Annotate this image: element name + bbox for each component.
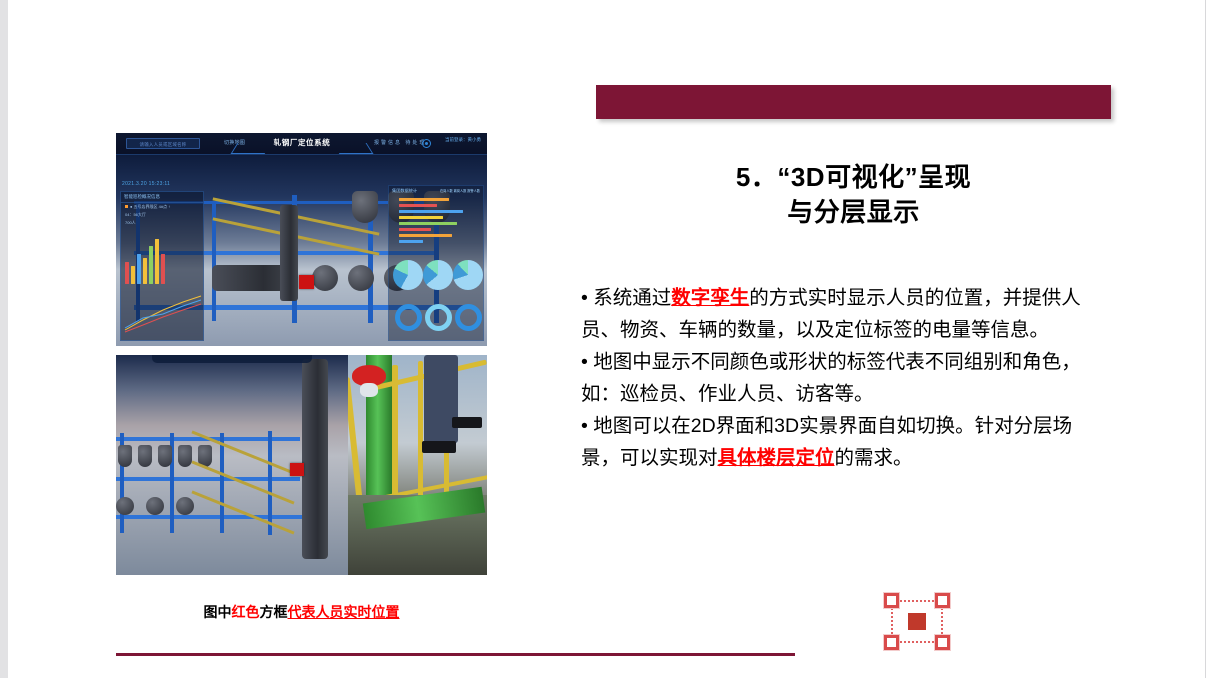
right-panel-donut-group bbox=[393, 304, 483, 334]
bullet-marker: • bbox=[581, 287, 588, 309]
caption-red-color: 红色 bbox=[232, 604, 260, 620]
search-placeholder: 请输入人员或区域名称 bbox=[127, 139, 199, 150]
spherical-tank bbox=[146, 497, 164, 515]
left-stats-panel[interactable]: 智能巡检概况信息 ● 五号店界限区 4#点 ↑ 04：56大厅 700人 bbox=[120, 191, 204, 341]
person-position-marker-icon bbox=[290, 463, 304, 476]
caption-part-1: 图中 bbox=[204, 604, 232, 620]
resize-handle-bottom-left[interactable] bbox=[884, 635, 899, 650]
right-panel-legend: 在岗人数 离岗人数 报警人数 bbox=[440, 188, 480, 193]
face-mask bbox=[360, 383, 378, 397]
bullet-list: • 系统通过数字孪生的方式实时显示人员的位置，并提供人员、物资、车辆的数量，以及… bbox=[581, 283, 1101, 475]
bullet-item-1: • 系统通过数字孪生的方式实时显示人员的位置，并提供人员、物资、车辆的数量，以及… bbox=[581, 283, 1101, 346]
app-header-bar: 请输入人员或区域名称 切换地图 轧钢厂定位系统 报警信息 待处理 当前登录：黄小… bbox=[116, 133, 487, 155]
3d-model-view[interactable] bbox=[116, 355, 348, 575]
storage-tank bbox=[138, 445, 152, 467]
worker-legs bbox=[424, 355, 458, 443]
red-square-shape[interactable] bbox=[908, 613, 926, 630]
left-panel-title: 智能巡检概况信息 bbox=[121, 192, 203, 203]
accent-header-bar bbox=[596, 85, 1111, 119]
left-panel-row: ● 五号店界限区 4#点 ↑ bbox=[121, 203, 203, 211]
gear-icon[interactable] bbox=[422, 139, 431, 148]
vertical-column bbox=[302, 359, 328, 559]
bullet-3-seg-2: 的需求。 bbox=[835, 447, 913, 469]
right-panel-pie-group bbox=[393, 260, 483, 294]
scene-banner bbox=[152, 355, 312, 363]
status-dot-icon bbox=[125, 205, 128, 208]
steel-beam bbox=[116, 477, 300, 481]
current-user-label: 当前登录：黄小勇 bbox=[445, 137, 481, 143]
page-title: 5．“3D可视化”呈现 与分层显示 bbox=[596, 160, 1111, 230]
pie-chart bbox=[453, 260, 483, 290]
system-title: 轧钢厂定位系统 bbox=[234, 137, 370, 148]
bullet-marker: • bbox=[581, 415, 588, 437]
storage-tank bbox=[352, 191, 378, 223]
steel-beam bbox=[116, 515, 310, 519]
image-caption: 图中红色方框代表人员实时位置 bbox=[116, 602, 487, 622]
left-panel-line-chart bbox=[123, 290, 203, 334]
person-position-marker-icon bbox=[299, 275, 314, 289]
storage-tank bbox=[158, 445, 172, 467]
donut-chart bbox=[395, 304, 422, 331]
live-video-view[interactable] bbox=[348, 355, 487, 575]
bullet-1-highlight: 数字孪生 bbox=[671, 287, 749, 309]
screenshot-layered-scene[interactable] bbox=[116, 355, 487, 575]
caption-part-3: 方框 bbox=[260, 604, 288, 620]
slide-canvas: 请输入人员或区域名称 切换地图 轧钢厂定位系统 报警信息 待处理 当前登录：黄小… bbox=[0, 0, 1206, 678]
storage-tank bbox=[178, 445, 192, 467]
resize-handle-top-right[interactable] bbox=[935, 593, 950, 608]
donut-chart bbox=[425, 304, 452, 331]
selected-shape-widget[interactable] bbox=[884, 593, 950, 650]
search-input[interactable]: 请输入人员或区域名称 bbox=[126, 138, 200, 149]
system-title-wrap: 轧钢厂定位系统 bbox=[234, 133, 370, 155]
resize-handle-bottom-right[interactable] bbox=[935, 635, 950, 650]
pie-chart bbox=[423, 260, 453, 290]
bullet-item-3: • 地图可以在2D界面和3D实景界面自如切换。针对分层场景，可以实现对具体楼层定… bbox=[581, 411, 1101, 474]
right-stats-panel[interactable]: 集团数据统计 在岗人数 离岗人数 报警人数 bbox=[388, 185, 484, 341]
donut-chart bbox=[455, 304, 482, 331]
spherical-tank bbox=[116, 497, 134, 515]
spherical-tank bbox=[176, 497, 194, 515]
right-panel-hbar-chart bbox=[399, 198, 479, 244]
bullet-1-seg-0: 系统通过 bbox=[588, 287, 671, 309]
title-line-2: 与分层显示 bbox=[596, 195, 1111, 230]
bullet-item-2: • 地图中显示不同颜色或形状的标签代表不同组别和角色，如：巡检员、作业人员、访客… bbox=[581, 347, 1101, 410]
bullet-2-seg-0: 地图中显示不同颜色或形状的标签代表不同组别和角色，如：巡检员、作业人员、访客等。 bbox=[581, 351, 1081, 405]
left-panel-row: 700人 bbox=[121, 219, 203, 227]
worker-boot bbox=[452, 417, 482, 428]
left-panel-bar-chart bbox=[125, 236, 201, 284]
spherical-tank bbox=[348, 265, 374, 291]
bullet-marker: • bbox=[581, 351, 588, 373]
3d-scene-viewport[interactable]: 2021.3.20 15:23:11 智能巡检概况信息 ● 五号店界限区 4#点… bbox=[116, 155, 487, 346]
scene-timestamp: 2021.3.20 15:23:11 bbox=[122, 181, 170, 187]
vertical-column bbox=[280, 205, 298, 301]
spherical-tank bbox=[312, 265, 338, 291]
pie-chart bbox=[393, 260, 423, 290]
bullet-3-highlight: 具体楼层定位 bbox=[718, 447, 835, 469]
title-line-1: 5．“3D可视化”呈现 bbox=[596, 160, 1111, 195]
storage-tank bbox=[118, 445, 132, 467]
caption-red-underline: 代表人员实时位置 bbox=[288, 604, 400, 620]
nav-alarm-pending[interactable]: 报警信息 待处理 bbox=[374, 139, 426, 146]
resize-handle-top-left[interactable] bbox=[884, 593, 899, 608]
screenshot-positioning-system[interactable]: 请输入人员或区域名称 切换地图 轧钢厂定位系统 报警信息 待处理 当前登录：黄小… bbox=[116, 133, 487, 346]
steel-column bbox=[220, 433, 224, 533]
bottom-divider-rule bbox=[116, 653, 795, 656]
left-panel-row: 04：56大厅 bbox=[121, 211, 203, 219]
steel-column bbox=[268, 431, 272, 535]
worker-boot bbox=[422, 441, 456, 453]
